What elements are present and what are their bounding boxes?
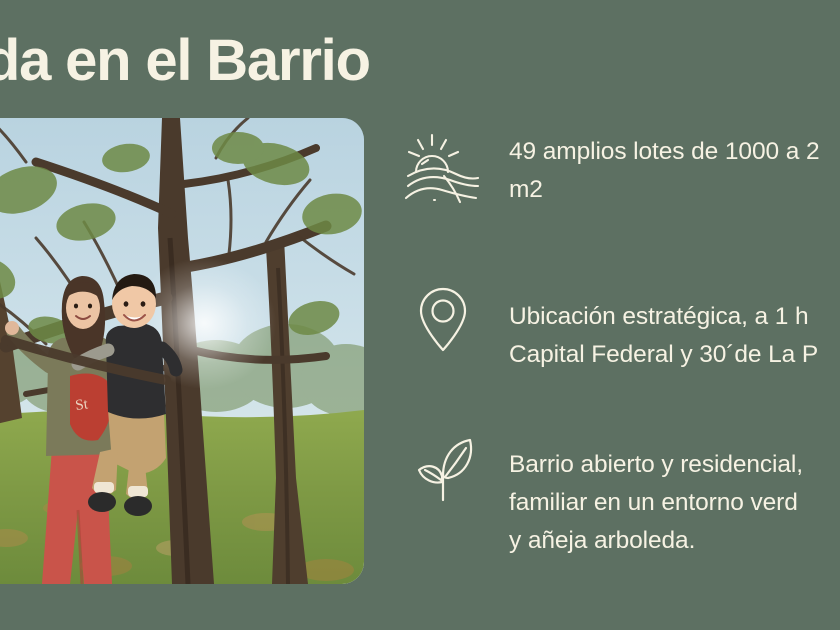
page-title: ida en el Barrio (0, 24, 840, 98)
slide-canvas: ida en el Barrio (0, 0, 840, 630)
feature-text-barrio: Barrio abierto y residencial, familiar e… (509, 446, 840, 560)
feature-item-ubicacion: Ubicación estratégica, a 1 h Capital Fed… (404, 278, 840, 374)
sunrise-field-icon (404, 128, 482, 206)
feature-text-lotes: 49 amplios lotes de 1000 a 2 m2 (509, 133, 840, 209)
leaf-sprout-icon (404, 430, 482, 508)
location-pin-icon (404, 280, 482, 358)
feature-item-lotes: 49 amplios lotes de 1000 a 2 m2 (404, 128, 840, 209)
feature-item-barrio: Barrio abierto y residencial, familiar e… (404, 428, 840, 560)
hero-photo: St (0, 118, 364, 584)
feature-text-ubicacion: Ubicación estratégica, a 1 h Capital Fed… (509, 298, 840, 374)
hero-photo-illustration: St (0, 118, 364, 584)
